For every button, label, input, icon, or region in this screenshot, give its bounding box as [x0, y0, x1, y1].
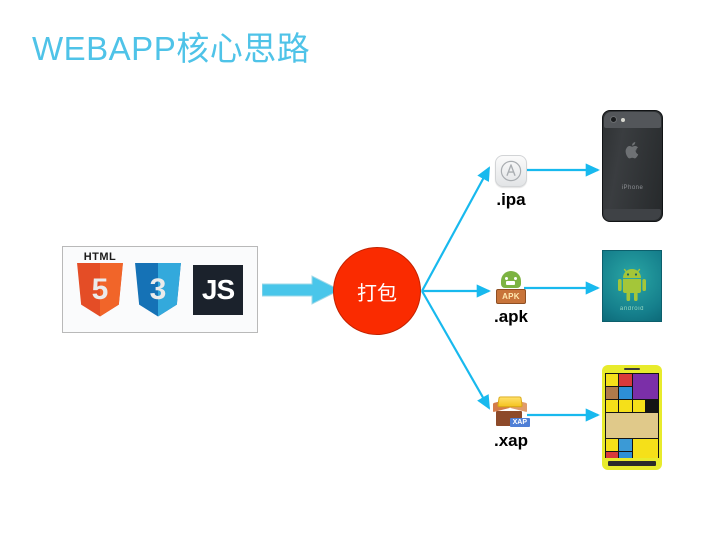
iphone-wordmark: iPhone	[603, 185, 662, 191]
apple-logo-icon	[625, 141, 640, 164]
android-device: android	[602, 250, 662, 322]
android-head-icon	[501, 271, 521, 288]
windows-phone-navbar	[608, 461, 656, 466]
html5-word-label: HTML	[77, 251, 123, 263]
apk-package-icon: APK	[495, 270, 527, 304]
file-label-xap: .xap	[474, 431, 548, 451]
camera-icon	[610, 116, 617, 123]
javascript-logo: JS	[193, 265, 243, 315]
html5-number: 5	[77, 275, 123, 305]
css3-number: 3	[135, 275, 181, 305]
packaging-node: 打包	[333, 247, 421, 335]
iphone-device: iPhone	[602, 110, 663, 222]
packaging-label: 打包	[357, 277, 397, 306]
xap-badge-label: XAP	[510, 418, 530, 427]
css3-logo: 3	[135, 263, 181, 317]
xap-package-icon: XAP	[493, 392, 529, 428]
main-flow-arrow-icon	[262, 274, 340, 306]
file-label-ipa: .ipa	[474, 190, 548, 210]
output-node-xap: XAP .xap	[474, 392, 548, 451]
output-node-apk: APK .apk	[474, 270, 548, 327]
live-tiles-screen	[605, 373, 659, 458]
windows-phone-device	[602, 365, 662, 470]
flash-icon	[621, 118, 625, 122]
appstore-glyph-icon	[500, 160, 522, 182]
slide-canvas: WEBAPP核心思路 HTML 5 3 JS 打包	[0, 0, 720, 540]
javascript-label: JS	[193, 265, 243, 315]
appstore-icon	[495, 155, 527, 187]
android-wordmark: android	[603, 306, 661, 312]
web-technology-box: HTML 5 3 JS	[62, 246, 258, 333]
file-label-apk: .apk	[474, 307, 548, 327]
apk-badge-label: APK	[502, 292, 520, 301]
html5-logo: HTML 5	[77, 263, 123, 317]
android-robot-icon	[616, 268, 648, 307]
output-node-ipa: .ipa	[474, 155, 548, 210]
page-title: WEBAPP核心思路	[32, 22, 310, 70]
